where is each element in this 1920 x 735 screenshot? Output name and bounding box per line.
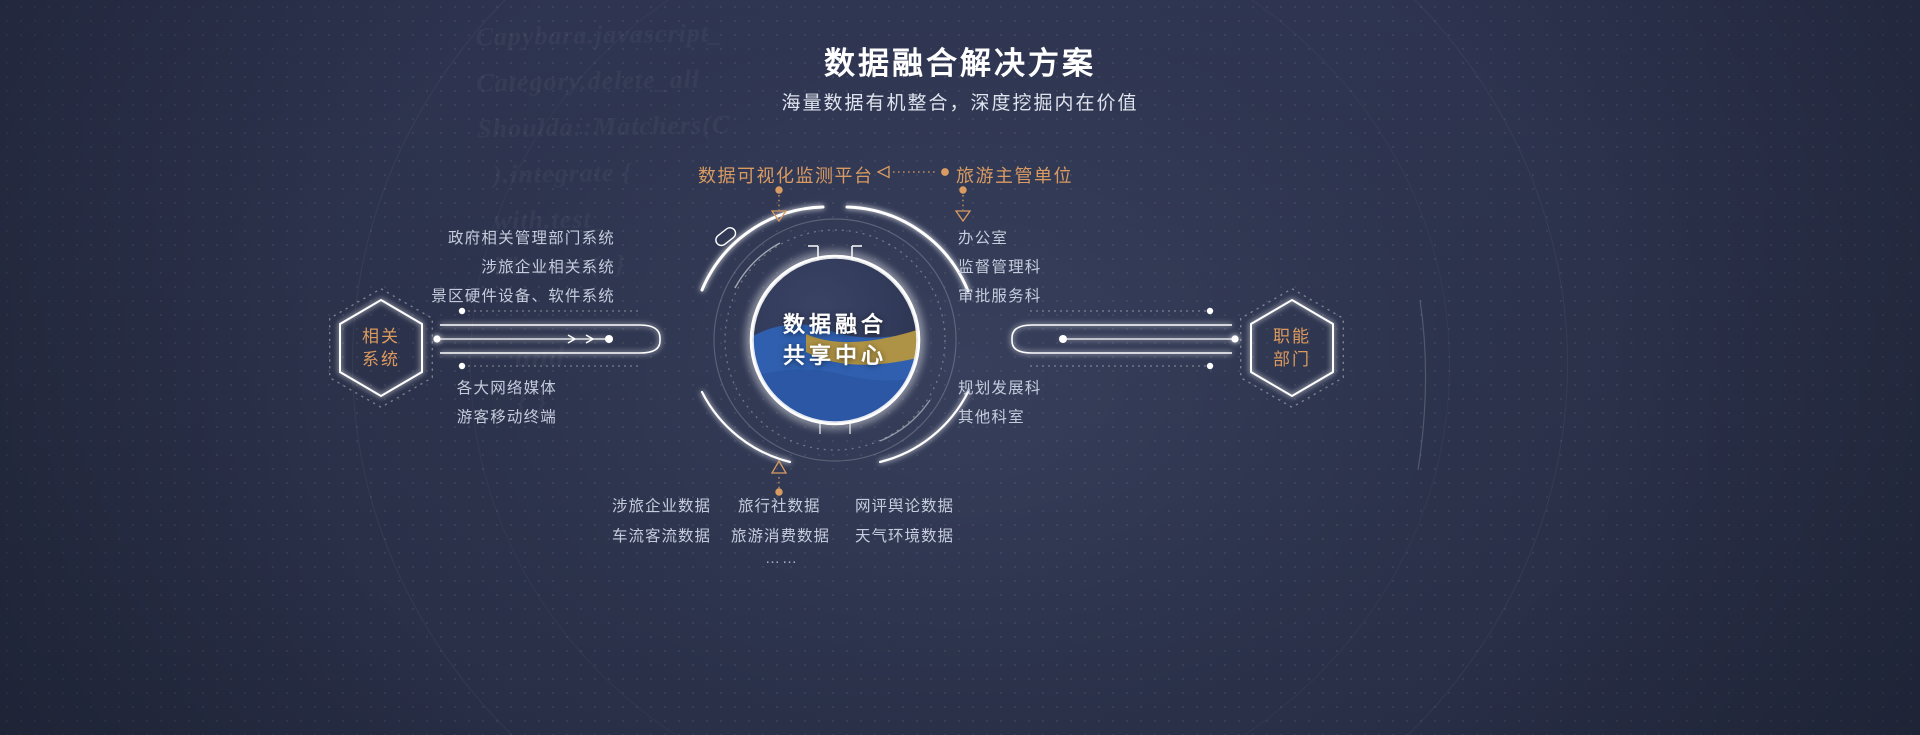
solution-diagram-canvas: Capybara.javascript_ Category.delete_all…	[0, 0, 1920, 735]
left-item-scenic-hardware-software-systems[interactable]: 景区硬件设备、软件系统	[431, 284, 615, 306]
center-label-line2: 共享中心	[783, 340, 887, 371]
background-curve-right	[1418, 300, 1426, 470]
bottom-ellipsis: ……	[765, 550, 799, 567]
left-item-gov-dept-systems[interactable]: 政府相关管理部门系统	[448, 226, 615, 248]
right-dotted-line-top	[1030, 308, 1213, 314]
right-hexagon-line1: 职能	[1273, 325, 1311, 348]
left-dotted-line-top	[459, 308, 640, 314]
left-item-tourism-enterprise-systems[interactable]: 涉旅企业相关系统	[481, 255, 615, 277]
bottom-item-travel-agency-data[interactable]: 旅行社数据	[738, 494, 821, 516]
bottom-item-weather-environment-data[interactable]: 天气环境数据	[855, 524, 954, 546]
left-hexagon-line2: 系统	[362, 348, 400, 371]
center-label-line1: 数据融合	[783, 309, 887, 340]
left-item-tourist-mobile-terminal[interactable]: 游客移动终端	[457, 405, 557, 427]
left-dotted-line-bottom	[459, 363, 640, 369]
node-tourism-authority[interactable]: 旅游主管单位	[956, 162, 1073, 188]
left-bus-rails	[433, 325, 660, 353]
right-dotted-line-bottom	[1030, 363, 1213, 369]
center-sphere-label-wrap: 数据融合 共享中心	[690, 195, 980, 485]
bottom-item-tourism-enterprise-data[interactable]: 涉旅企业数据	[612, 494, 711, 516]
center-sphere-label: 数据融合 共享中心	[690, 195, 980, 485]
node-data-visualization-platform[interactable]: 数据可视化监测平台	[698, 162, 874, 188]
right-flow-arrows	[1059, 335, 1067, 343]
right-hexagon-node[interactable]: 职能 部门	[1232, 282, 1352, 414]
top-orange-connector	[878, 167, 948, 178]
bottom-item-tourism-consumption-data[interactable]: 旅游消费数据	[731, 524, 830, 546]
left-item-network-media[interactable]: 各大网络媒体	[457, 376, 557, 398]
bottom-item-traffic-flow-data[interactable]: 车流客流数据	[612, 524, 711, 546]
right-hexagon-line2: 部门	[1273, 348, 1311, 371]
left-hexagon-label: 相关 系统	[321, 282, 441, 414]
right-bus-rails	[1012, 325, 1239, 353]
left-hexagon-line1: 相关	[362, 325, 400, 348]
bottom-item-online-review-data[interactable]: 网评舆论数据	[855, 494, 954, 516]
left-hexagon-node[interactable]: 相关 系统	[321, 282, 441, 414]
right-hexagon-label: 职能 部门	[1232, 282, 1352, 414]
